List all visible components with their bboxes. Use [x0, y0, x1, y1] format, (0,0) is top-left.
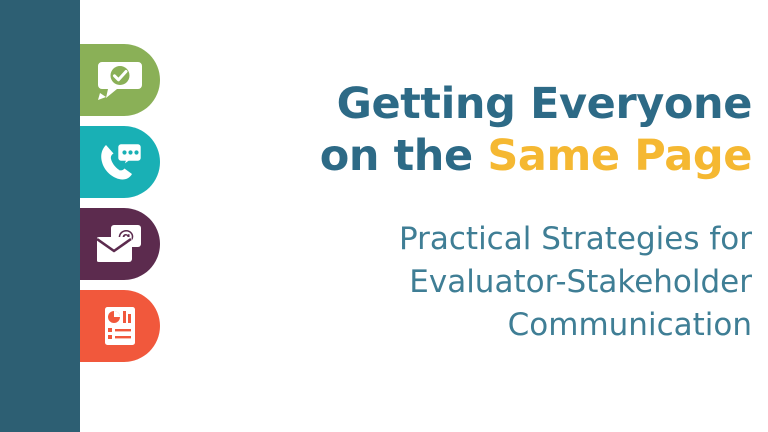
title-line-2: on the Same Page: [200, 130, 752, 182]
icon-pill-speech-bubble-check: [80, 44, 160, 116]
icon-pill-report-clipboard: [80, 290, 160, 362]
slide-subtitle: Practical Strategies for Evaluator-Stake…: [200, 218, 752, 347]
icon-pill-stack: @: [80, 44, 160, 372]
icon-pill-email-envelope: @: [80, 208, 160, 280]
slide-canvas: @ G: [0, 0, 768, 432]
email-envelope-icon: @: [97, 223, 143, 265]
icon-pill-phone-chat: [80, 126, 160, 198]
subtitle-line-3: Communication: [200, 304, 752, 347]
phone-chat-icon: [97, 141, 143, 183]
speech-bubble-check-icon: [97, 59, 143, 101]
title-line-2-plain: on the: [320, 131, 488, 181]
subtitle-line-2: Evaluator-Stakeholder: [200, 261, 752, 304]
report-clipboard-icon: [97, 305, 143, 347]
title-line-1: Getting Everyone: [200, 78, 752, 130]
slide-title: Getting Everyone on the Same Page: [200, 78, 752, 182]
title-line-2-accent: Same Page: [487, 131, 752, 181]
left-accent-band: [0, 0, 80, 432]
subtitle-line-1: Practical Strategies for: [200, 218, 752, 261]
